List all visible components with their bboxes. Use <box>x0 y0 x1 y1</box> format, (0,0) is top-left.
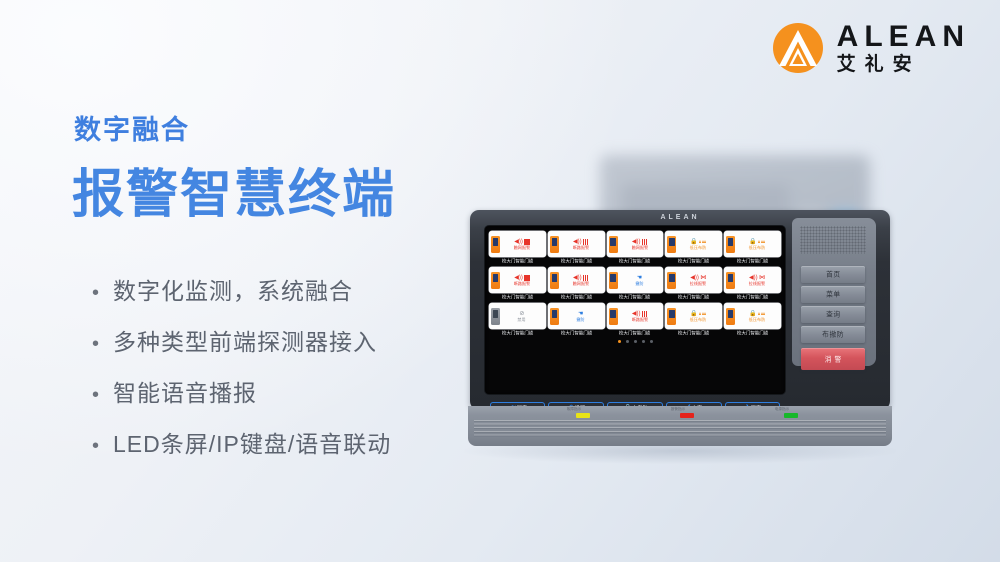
zone-tile-label: 校大门智能门锁 <box>619 329 650 337</box>
zone-tile-card[interactable]: 🔒低压布防 <box>665 303 722 329</box>
status-badge: 低压布防 <box>749 246 765 250</box>
indicator-led-row: 故障指示报警指示电源指示 <box>468 409 892 419</box>
zone-tile[interactable]: ☚撤防校大门智能门锁 <box>607 267 664 300</box>
zone-status-icon: ◀)) <box>514 274 529 281</box>
pagination-dot[interactable] <box>634 340 637 343</box>
zone-tile-grid: ◀))触网报警校大门智能门锁◀))断路报警校大门智能门锁◀))触网报警校大门智能… <box>489 231 781 336</box>
device-thumb-icon <box>550 308 559 325</box>
zone-tile-label: 校大门智能门锁 <box>737 293 768 301</box>
zone-tile-label: 校大门智能门锁 <box>619 257 650 265</box>
hardware-button-label: 首页 <box>826 270 841 279</box>
zone-status-icon: ◀)) <box>573 274 588 281</box>
zone-tile-card[interactable]: ◀))断路报警 <box>489 267 546 293</box>
zone-tile[interactable]: ◀))断路报警校大门智能门锁 <box>548 231 605 264</box>
zone-tile-card[interactable]: ◀))断路报警 <box>548 231 605 257</box>
status-badge: 撤防 <box>635 282 643 286</box>
list-item-label: 智能语音播报 <box>113 374 257 408</box>
alarm-terminal-device: ALEAN ◀))触网报警校大门智能门锁◀))断路报警校大门智能门锁◀))触网报… <box>470 210 890 446</box>
zone-tile[interactable]: ◀))断路报警校大门智能门锁 <box>607 303 664 336</box>
zone-tile[interactable]: ⊘禁用校大门智能门锁 <box>489 303 546 336</box>
zone-tile-label: 校大门智能门锁 <box>619 293 650 301</box>
status-badge: 拉线报警 <box>749 282 765 286</box>
status-badge: 低压布防 <box>749 318 765 322</box>
zone-tile-label: 校大门智能门锁 <box>737 329 768 337</box>
hardware-button-label: 菜单 <box>826 290 841 299</box>
device-thumb-icon <box>667 272 676 289</box>
speaker-grille-icon <box>800 226 866 254</box>
zone-tile-card[interactable]: ◀))触网报警 <box>489 231 546 257</box>
zone-tile-label: 校大门智能门锁 <box>678 257 709 265</box>
device-thumb-icon <box>609 308 618 325</box>
device-bezel: ALEAN ◀))触网报警校大门智能门锁◀))断路报警校大门智能门锁◀))触网报… <box>470 210 890 410</box>
zone-status-icon: ☚ <box>637 274 642 281</box>
list-item: • 智能语音播报 <box>92 374 391 425</box>
status-badge: 低压布防 <box>690 318 706 322</box>
list-item-label: 数字化监测，系统融合 <box>113 272 353 306</box>
zone-tile-label: 校大门智能门锁 <box>502 329 533 337</box>
zone-tile-card[interactable]: ◀))⋈拉线报警 <box>724 267 781 293</box>
status-badge: 断路报警 <box>631 318 647 322</box>
brand-logo: ALEAN 艾礼安 <box>772 22 970 74</box>
device-thumb-icon <box>609 272 618 289</box>
device-thumb-icon <box>550 236 559 253</box>
indicator-led <box>576 413 590 418</box>
zone-status-icon: ◀)) <box>514 238 529 245</box>
list-item: • LED条屏/IP键盘/语音联动 <box>92 425 391 476</box>
status-badge: 触网报警 <box>631 246 647 250</box>
device-thumb-icon <box>491 272 500 289</box>
hardware-button[interactable]: 查询 <box>801 306 865 323</box>
zone-status-icon: ◀))⋈ <box>690 274 706 281</box>
zone-status-icon: 🔒 <box>749 310 765 317</box>
zone-tile-card[interactable]: ◀))触网报警 <box>607 231 664 257</box>
zone-tile-label: 校大门智能门锁 <box>737 257 768 265</box>
status-badge: 触网报警 <box>572 282 588 286</box>
zone-tile-card[interactable]: ☚撤防 <box>548 303 605 329</box>
status-badge: 断路报警 <box>514 282 530 286</box>
zone-status-icon: ◀)) <box>573 238 588 245</box>
zone-tile-card[interactable]: ◀))⋈拉线报警 <box>665 267 722 293</box>
brand-name-cn: 艾礼安 <box>837 55 970 74</box>
zone-tile[interactable]: ◀))触网报警校大门智能门锁 <box>607 231 664 264</box>
alean-triangle-logo-icon <box>772 22 824 74</box>
device-thumb-icon <box>726 272 735 289</box>
hardware-button[interactable]: 首页 <box>801 266 865 283</box>
zone-status-icon: ⊘ <box>519 310 524 317</box>
bullet-dot-icon: • <box>92 283 100 303</box>
device-thumb-icon <box>491 308 500 325</box>
indicator-led <box>680 413 694 418</box>
zone-tile[interactable]: 🔒低压布防校大门智能门锁 <box>665 231 722 264</box>
zone-tile[interactable]: 🔒低压布防校大门智能门锁 <box>665 303 722 336</box>
zone-tile[interactable]: ◀))触网报警校大门智能门锁 <box>548 267 605 300</box>
zone-tile-label: 校大门智能门锁 <box>502 293 533 301</box>
device-thumb-icon <box>726 308 735 325</box>
device-thumb-icon <box>491 236 500 253</box>
device-thumb-icon <box>667 236 676 253</box>
zone-tile-card[interactable]: 🔒低压布防 <box>665 231 722 257</box>
clear-alarm-button[interactable]: 消 警 <box>801 348 865 370</box>
pagination-dot[interactable] <box>642 340 645 343</box>
zone-tile-card[interactable]: ◀))触网报警 <box>548 267 605 293</box>
vent-ridges <box>474 420 886 438</box>
pagination-dot[interactable] <box>626 340 629 343</box>
device-thumb-icon <box>667 308 676 325</box>
zone-tile[interactable]: ☚撤防校大门智能门锁 <box>548 303 605 336</box>
brand-name-en: ALEAN <box>837 22 970 52</box>
indicator-label: 电源指示 <box>775 407 789 412</box>
zone-status-icon: 🔒 <box>690 238 706 245</box>
zone-tile[interactable]: 🔒低压布防校大门智能门锁 <box>724 303 781 336</box>
page-title: 报警智慧终端 <box>72 152 396 227</box>
status-badge: 撤防 <box>577 318 585 322</box>
pagination-dot[interactable] <box>650 340 653 343</box>
zone-tile-card[interactable]: 🔒低压布防 <box>724 231 781 257</box>
pagination-dot[interactable] <box>618 340 621 343</box>
status-badge: 拉线报警 <box>690 282 706 286</box>
zone-tile[interactable]: 🔒低压布防校大门智能门锁 <box>724 231 781 264</box>
list-item: • 多种类型前端探测器接入 <box>92 323 391 374</box>
list-item: • 数字化监测，系统融合 <box>92 272 391 323</box>
list-item-label: 多种类型前端探测器接入 <box>113 323 377 357</box>
zone-tile-label: 校大门智能门锁 <box>502 257 533 265</box>
indicator-led <box>784 413 798 418</box>
zone-tile-label: 校大门智能门锁 <box>560 329 591 337</box>
device-thumb-icon <box>609 236 618 253</box>
clear-alarm-button-label: 消 警 <box>824 354 841 363</box>
zone-tile-card[interactable]: ☚撤防 <box>607 267 664 293</box>
hardware-button-label: 布撤防 <box>822 330 844 339</box>
pagination-dots[interactable] <box>489 340 781 343</box>
zone-status-icon: ◀)) <box>632 238 647 245</box>
indicator-label: 故障指示 <box>567 407 581 412</box>
zone-tile-label: 校大门智能门锁 <box>560 257 591 265</box>
zone-tile-card[interactable]: ⊘禁用 <box>489 303 546 329</box>
device-thumb-icon <box>550 272 559 289</box>
zone-status-icon: 🔒 <box>690 310 706 317</box>
device-screen[interactable]: ◀))触网报警校大门智能门锁◀))断路报警校大门智能门锁◀))触网报警校大门智能… <box>485 226 785 394</box>
zone-status-icon: ☚ <box>578 310 583 317</box>
device-base: 故障指示报警指示电源指示 <box>468 406 892 446</box>
status-badge: 低压布防 <box>690 246 706 250</box>
zone-tile-label: 校大门智能门锁 <box>678 293 709 301</box>
zone-tile[interactable]: ◀))⋈拉线报警校大门智能门锁 <box>724 267 781 300</box>
status-badge: 禁用 <box>518 318 526 322</box>
zone-tile-label: 校大门智能门锁 <box>678 329 709 337</box>
device-thumb-icon <box>726 236 735 253</box>
zone-tile[interactable]: ◀))断路报警校大门智能门锁 <box>489 267 546 300</box>
hero-kicker: 数字融合 <box>74 108 190 147</box>
device-control-panel: 首页菜单查询布撤防消 警 <box>792 218 876 366</box>
zone-tile[interactable]: ◀))触网报警校大门智能门锁 <box>489 231 546 264</box>
list-item-label: LED条屏/IP键盘/语音联动 <box>113 425 391 459</box>
status-badge: 断路报警 <box>572 246 588 250</box>
bullet-dot-icon: • <box>92 385 100 405</box>
hardware-button-label: 查询 <box>826 310 841 319</box>
zone-status-icon: ◀)) <box>632 310 647 317</box>
zone-tile[interactable]: ◀))⋈拉线报警校大门智能门锁 <box>665 267 722 300</box>
feature-list: • 数字化监测，系统融合 • 多种类型前端探测器接入 • 智能语音播报 • LE… <box>92 272 391 476</box>
status-badge: 触网报警 <box>514 246 530 250</box>
indicator-label: 报警指示 <box>671 407 685 412</box>
zone-tile-label: 校大门智能门锁 <box>560 293 591 301</box>
zone-status-icon: ◀))⋈ <box>749 274 765 281</box>
hardware-button[interactable]: 菜单 <box>801 286 865 303</box>
hardware-button[interactable]: 布撤防 <box>801 326 865 343</box>
zone-tile-card[interactable]: 🔒低压布防 <box>724 303 781 329</box>
hardware-button-group: 首页菜单查询布撤防消 警 <box>801 266 865 370</box>
zone-tile-card[interactable]: ◀))断路报警 <box>607 303 664 329</box>
zone-status-icon: 🔒 <box>749 238 765 245</box>
bullet-dot-icon: • <box>92 436 100 456</box>
bullet-dot-icon: • <box>92 334 100 354</box>
